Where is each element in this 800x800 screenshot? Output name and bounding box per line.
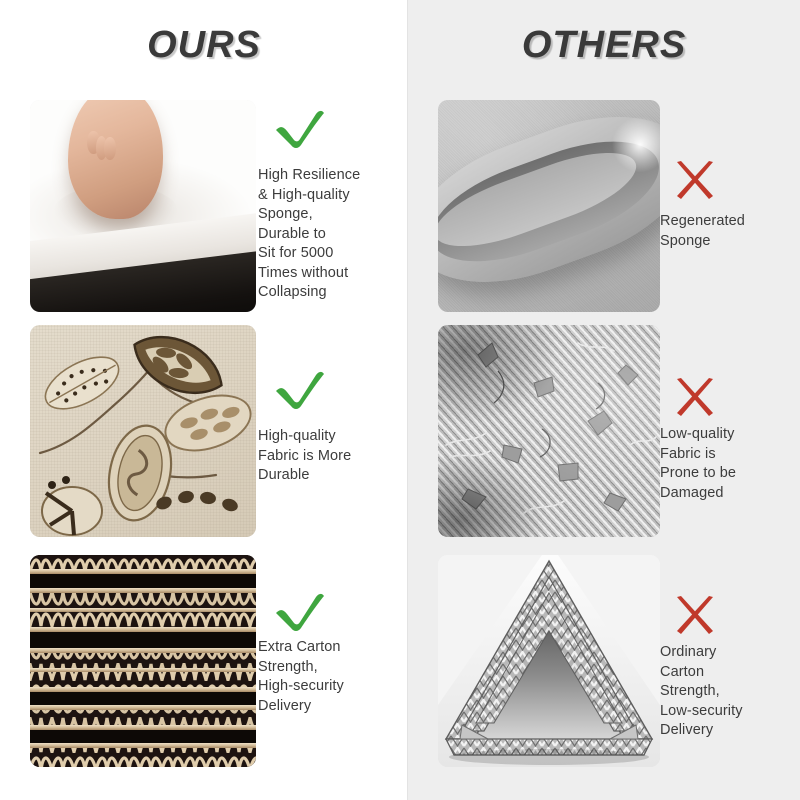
red-cross-icon bbox=[672, 593, 718, 637]
green-check-icon bbox=[274, 106, 326, 150]
others-image-sponge bbox=[438, 100, 660, 312]
ours-row-1: High Resilience & High-quality Sponge, D… bbox=[30, 100, 390, 312]
ours-row-3: Extra Carton Strength, High-security Del… bbox=[30, 555, 390, 767]
ours-row-3-text-block: Extra Carton Strength, High-security Del… bbox=[256, 555, 390, 767]
damaged-fabric-artwork bbox=[438, 325, 660, 537]
foam-press-artwork bbox=[30, 100, 256, 312]
others-row-2: Low-quality Fabric is Prone to be Damage… bbox=[438, 325, 790, 537]
ours-row-2-text-block: High-quality Fabric is More Durable bbox=[256, 325, 390, 537]
ours-row-1-text-block: High Resilience & High-quality Sponge, D… bbox=[256, 100, 390, 312]
others-caption-1: Regenerated Sponge bbox=[660, 212, 790, 251]
ours-caption-1: High Resilience & High-quality Sponge, D… bbox=[258, 166, 390, 303]
green-check-icon bbox=[274, 367, 326, 411]
comparison-infographic: OURS OTHERS High Resilience & High-quali… bbox=[0, 0, 800, 800]
others-row-3-text-block: Ordinary Carton Strength, Low-security D… bbox=[660, 555, 790, 767]
others-row-2-text-block: Low-quality Fabric is Prone to be Damage… bbox=[660, 325, 790, 537]
ours-image-carton bbox=[30, 555, 256, 767]
red-cross-icon bbox=[672, 158, 718, 202]
column-divider bbox=[407, 0, 408, 800]
others-heading: OTHERS bbox=[408, 24, 800, 67]
ours-heading: OURS bbox=[0, 24, 408, 67]
others-caption-2: Low-quality Fabric is Prone to be Damage… bbox=[660, 425, 790, 503]
ours-image-fabric bbox=[30, 325, 256, 537]
regenerated-foam-artwork bbox=[438, 100, 660, 312]
ours-row-2: High-quality Fabric is More Durable bbox=[30, 325, 390, 537]
botanical-fabric-artwork bbox=[30, 325, 256, 537]
others-image-fabric bbox=[438, 325, 660, 537]
green-check-icon bbox=[274, 589, 326, 633]
ours-caption-2: High-quality Fabric is More Durable bbox=[258, 427, 390, 486]
others-image-carton bbox=[438, 555, 660, 767]
others-row-3: Ordinary Carton Strength, Low-security D… bbox=[438, 555, 790, 767]
others-row-1-text-block: Regenerated Sponge bbox=[660, 100, 790, 312]
ours-image-sponge bbox=[30, 100, 256, 312]
others-caption-3: Ordinary Carton Strength, Low-security D… bbox=[660, 643, 790, 741]
red-cross-icon bbox=[672, 375, 718, 419]
corrugated-layers-artwork bbox=[30, 555, 256, 767]
others-row-1: Regenerated Sponge bbox=[438, 100, 790, 312]
folded-carton-artwork bbox=[438, 555, 660, 767]
ours-caption-3: Extra Carton Strength, High-security Del… bbox=[258, 638, 390, 716]
